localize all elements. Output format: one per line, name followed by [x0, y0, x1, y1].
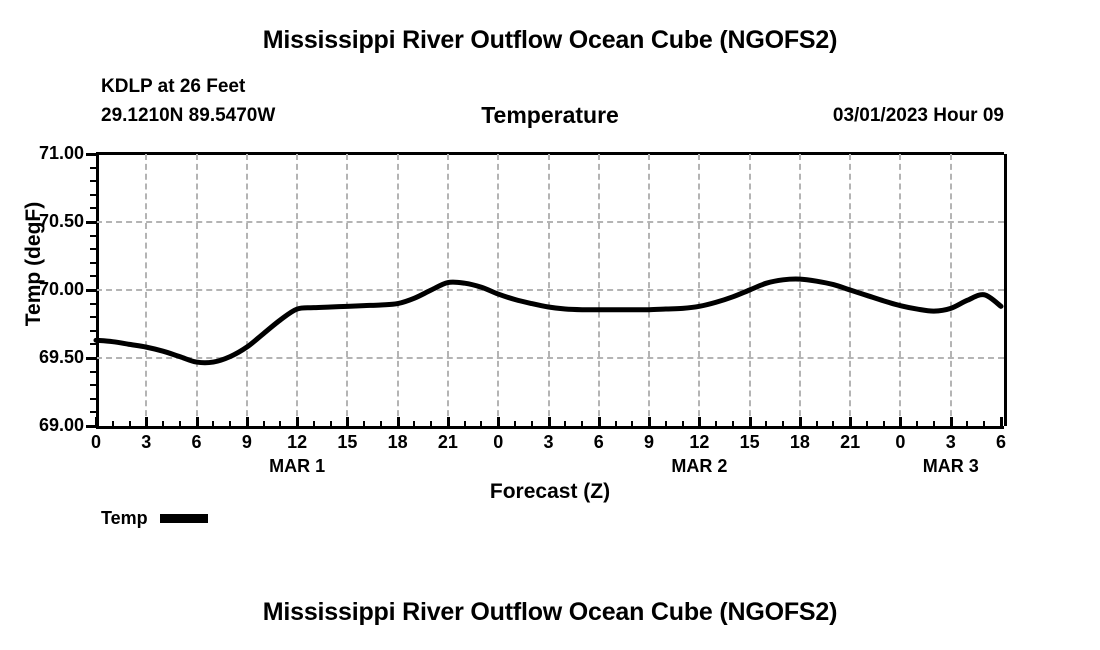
x-tick-label: 12	[689, 432, 709, 453]
x-tick-label: 0	[493, 432, 503, 453]
page-title: Mississippi River Outflow Ocean Cube (NG…	[0, 26, 1100, 55]
x-tick-label: 3	[543, 432, 553, 453]
legend-swatch-temp	[160, 514, 208, 523]
y-axis-label: Temp (degF)	[22, 164, 46, 364]
y-tick-label: 71.00	[39, 143, 84, 164]
x-axis-day-label: MAR 1	[269, 456, 325, 477]
model-run-time: 03/01/2023 Hour 09	[833, 105, 1004, 127]
x-tick-label: 0	[895, 432, 905, 453]
x-axis-day-label: MAR 2	[671, 456, 727, 477]
x-tick-label: 21	[438, 432, 458, 453]
x-tick-label: 18	[388, 432, 408, 453]
x-tick-label: 0	[91, 432, 101, 453]
chart-legend: Temp	[101, 508, 208, 529]
series-temp-line	[96, 154, 1001, 426]
y-tick-label: 69.00	[39, 415, 84, 436]
x-tick-label: 6	[594, 432, 604, 453]
x-tick-label: 3	[141, 432, 151, 453]
station-name: KDLP at 26 Feet	[101, 76, 245, 98]
x-tick-label: 6	[996, 432, 1006, 453]
legend-label-temp: Temp	[101, 508, 148, 529]
chart-page: Mississippi River Outflow Ocean Cube (NG…	[0, 0, 1100, 650]
x-tick-label: 6	[192, 432, 202, 453]
x-tick-label: 15	[740, 432, 760, 453]
x-axis-day-label: MAR 3	[923, 456, 979, 477]
series-path-temp	[96, 279, 1001, 363]
x-tick-label: 12	[287, 432, 307, 453]
footer-title: Mississippi River Outflow Ocean Cube (NG…	[0, 598, 1100, 627]
x-tick-label: 15	[337, 432, 357, 453]
x-tick-label: 21	[840, 432, 860, 453]
x-tick-label: 18	[790, 432, 810, 453]
x-tick-label: 3	[946, 432, 956, 453]
x-tick-label: 9	[242, 432, 252, 453]
x-tick-label: 9	[644, 432, 654, 453]
x-axis-label: Forecast (Z)	[0, 480, 1100, 504]
